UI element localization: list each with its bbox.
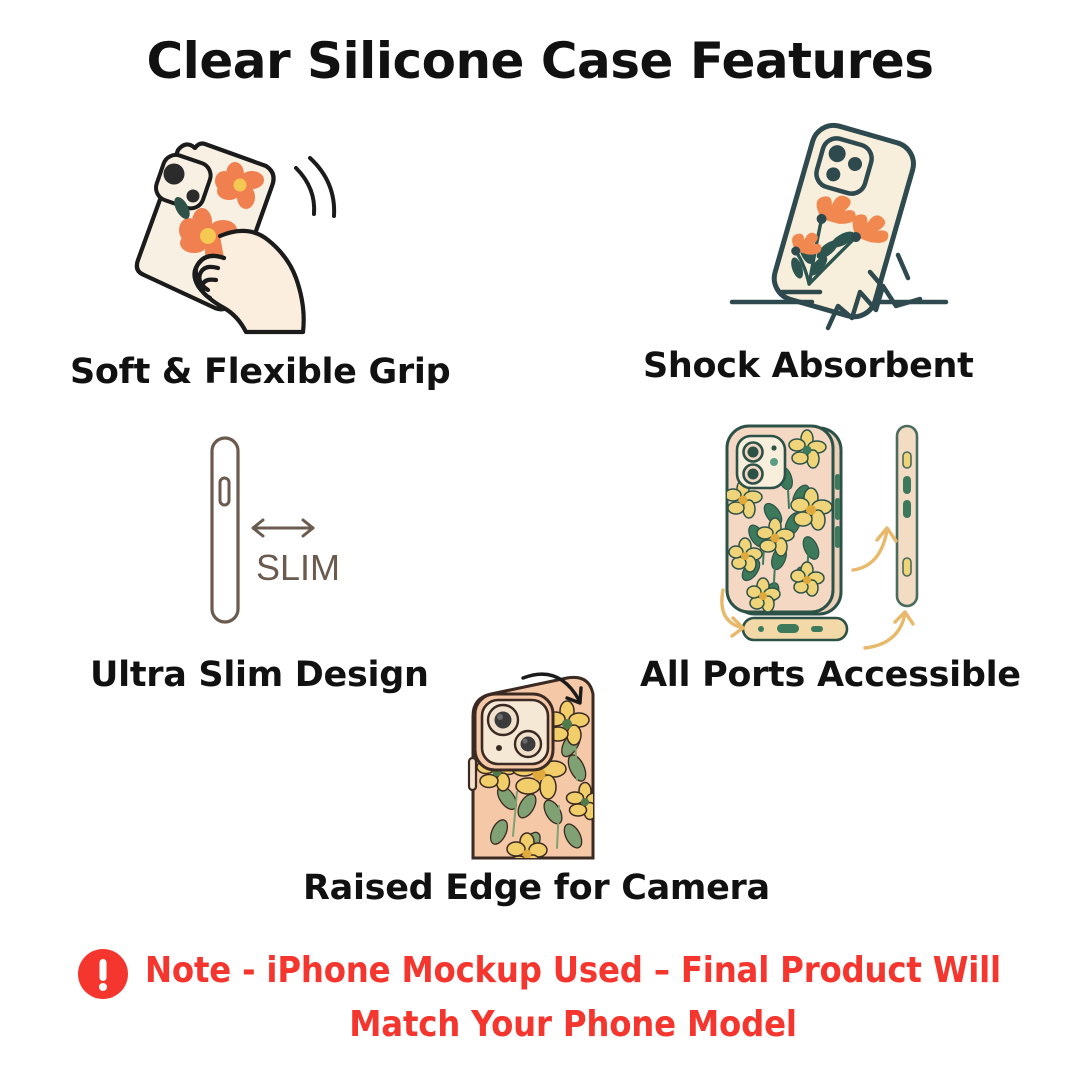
hand-holding-phone-icon xyxy=(120,118,380,348)
page-title: Clear Silicone Case Features xyxy=(0,32,1080,90)
ports-access-icon xyxy=(715,418,955,653)
ultra-slim-design-illustration: SLIM xyxy=(185,430,375,630)
width-arrow xyxy=(253,520,313,536)
feature-infographic-page: Clear Silicone Case Features xyxy=(0,0,1080,1080)
exclamation-circle-icon xyxy=(77,948,129,1000)
shock-absorbent-illustration xyxy=(720,120,970,335)
feature-label-all-ports-accessible: All Ports Accessible xyxy=(640,655,1021,695)
slim-profile-icon: SLIM xyxy=(185,430,375,630)
note-banner: Note - iPhone Mockup Used – Final Produc… xyxy=(0,944,1080,1052)
motion-lines xyxy=(296,158,334,216)
side-profile-view xyxy=(897,426,917,606)
phone-impact-icon xyxy=(720,120,970,335)
feature-label-raised-edge-for-camera: Raised Edge for Camera xyxy=(303,868,770,908)
feature-label-shock-absorbent: Shock Absorbent xyxy=(643,346,974,386)
all-ports-accessible-illustration xyxy=(715,418,955,653)
slim-caption: SLIM xyxy=(256,547,340,588)
raised-camera-edge-icon xyxy=(455,672,650,862)
raised-edge-for-camera-illustration xyxy=(455,672,650,862)
note-text: Note - iPhone Mockup Used – Final Produc… xyxy=(143,944,1003,1052)
feature-label-ultra-slim-design: Ultra Slim Design xyxy=(90,655,429,695)
bottom-edge-view xyxy=(743,618,847,640)
soft-flexible-grip-illustration xyxy=(120,118,380,348)
feature-label-soft-flexible-grip: Soft & Flexible Grip xyxy=(70,352,450,392)
